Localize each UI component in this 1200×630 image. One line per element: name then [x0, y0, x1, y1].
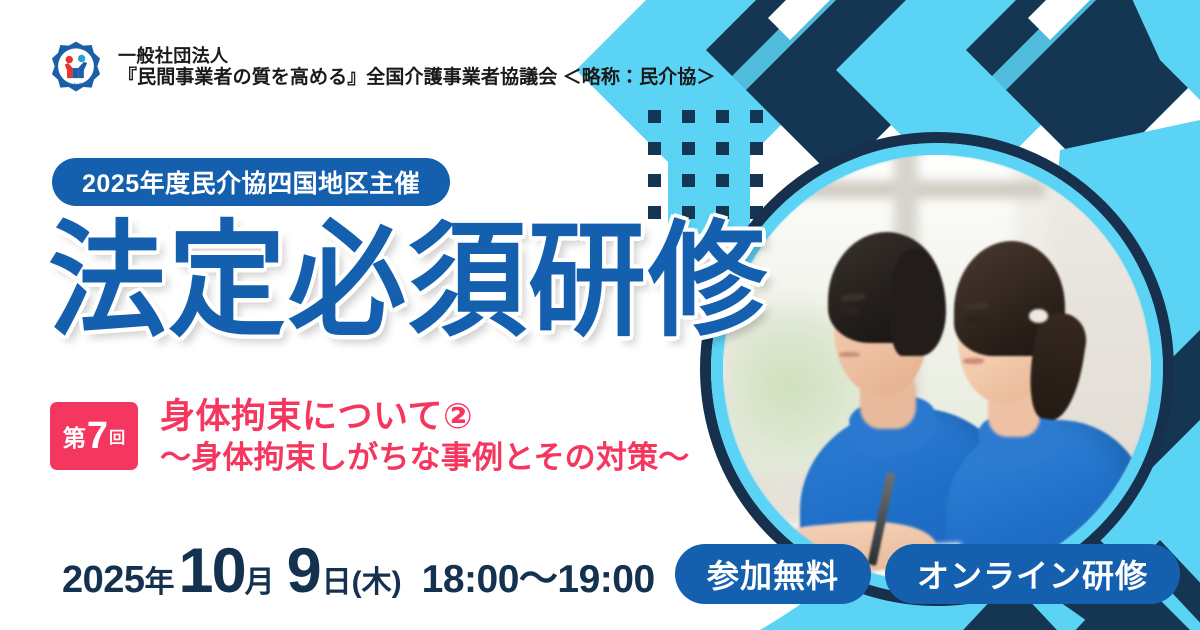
session-row: 第 7 回 身体拘束について② 〜身体拘束しがちな事例とその対策〜	[50, 396, 689, 477]
pill-online-training: オンライン研修	[885, 544, 1180, 604]
schedule-day-of-week: (木)	[352, 557, 402, 601]
info-pill-row: 参加無料 オンライン研修	[675, 544, 1180, 604]
pill-online-training-label: オンライン研修	[917, 551, 1148, 597]
schedule-day: 9	[275, 540, 322, 603]
schedule-day-unit: 日	[322, 557, 352, 601]
schedule-month-unit: 月	[245, 557, 275, 601]
schedule-line: 2025 年 10 月 9 日 (木) 18:00〜19:00	[62, 540, 655, 604]
episode-badge: 第 7 回	[50, 402, 138, 470]
org-name-line2: 『民間事業者の質を高める』全国介護事業者協議会 ＜略称：民介協＞	[118, 67, 715, 89]
host-badge-label: 2025年度民介協四国地区主催	[82, 164, 420, 200]
episode-suffix: 回	[109, 424, 125, 448]
schedule-year: 2025	[62, 559, 145, 602]
schedule-month: 10	[175, 540, 245, 603]
session-subheading: 〜身体拘束しがちな事例とその対策〜	[160, 439, 689, 477]
page-title: 法定必須研修	[48, 216, 768, 349]
minkaikyo-logo-icon: Minkaikyo	[48, 40, 104, 96]
svg-text:Minkaikyo: Minkaikyo	[63, 82, 88, 88]
organization-header: Minkaikyo 一般社団法人 『民間事業者の質を高める』全国介護事業者協議会…	[48, 40, 715, 96]
schedule-year-unit: 年	[145, 557, 175, 601]
seminar-banner: Minkaikyo 一般社団法人 『民間事業者の質を高める』全国介護事業者協議会…	[0, 0, 1200, 630]
episode-prefix: 第	[63, 419, 86, 453]
pill-free-participation: 参加無料	[675, 544, 871, 604]
pill-free-participation-label: 参加無料	[707, 551, 839, 597]
episode-number: 7	[86, 417, 109, 455]
photo-image	[723, 155, 1151, 583]
org-name-line1: 一般社団法人	[118, 46, 715, 67]
host-badge: 2025年度民介協四国地区主催	[52, 158, 450, 206]
care-workers-photo	[700, 132, 1174, 606]
session-heading: 身体拘束について②	[160, 396, 689, 439]
schedule-time: 18:00〜19:00	[402, 548, 655, 604]
